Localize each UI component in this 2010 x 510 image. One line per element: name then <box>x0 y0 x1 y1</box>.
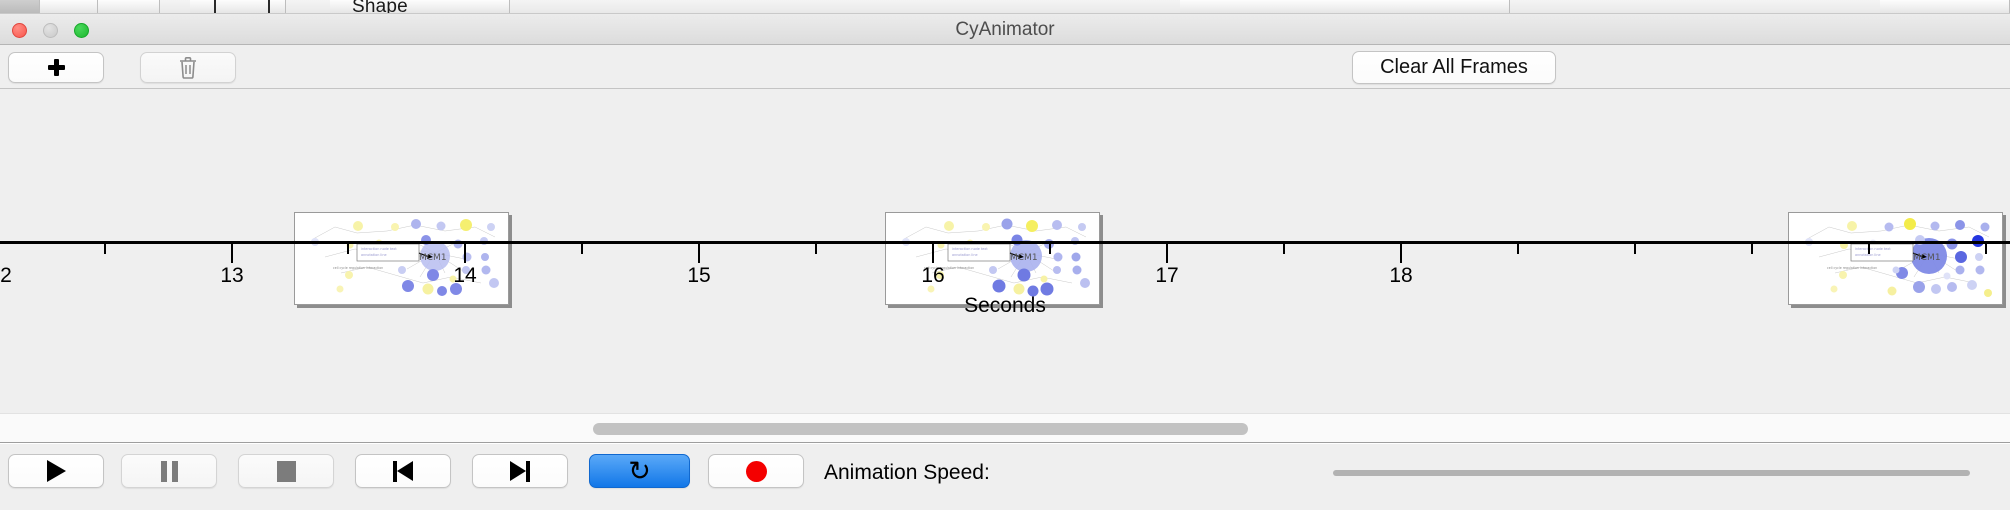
axis-tick-minor <box>1868 244 1870 254</box>
bg-chip <box>0 0 40 14</box>
axis-tick-major <box>1166 244 1168 263</box>
background-window-label: Shape <box>352 0 408 14</box>
axis-tick-major <box>932 244 934 263</box>
svg-text:MCM1: MCM1 <box>1010 253 1038 263</box>
timeline-pane[interactable]: interaction node text annotation line MC… <box>0 89 2010 413</box>
title-bar: CyAnimator <box>0 14 2010 45</box>
axis-tick-minor <box>1634 244 1636 254</box>
play-button[interactable] <box>8 454 104 488</box>
svg-text:MCM1: MCM1 <box>419 253 447 263</box>
axis-tick-major <box>464 244 466 263</box>
svg-text:annotation line: annotation line <box>952 253 978 257</box>
axis-tick-major <box>698 244 700 263</box>
add-frame-button[interactable] <box>8 52 104 83</box>
animation-speed-slider[interactable] <box>1333 470 1970 476</box>
stop-button[interactable] <box>238 454 334 488</box>
toolbar: Clear All Frames <box>0 45 2010 89</box>
axis-tick-label: 14 <box>453 264 476 288</box>
skip-to-end-button[interactable] <box>472 454 568 488</box>
axis-tick-minor <box>581 244 583 254</box>
axis-tick-label: 13 <box>220 264 243 288</box>
svg-text:cell cycle regulation interact: cell cycle regulation interaction <box>1827 266 1877 270</box>
cyanimator-window: Shape CyAnimator Clear All Frames <box>0 0 2010 510</box>
delete-frame-button[interactable] <box>140 52 236 83</box>
timeline-frame-thumbnail[interactable]: interaction node text annotation line MC… <box>294 212 509 305</box>
axis-tick-minor <box>1517 244 1519 254</box>
skip-to-start-button[interactable] <box>355 454 451 488</box>
loop-button[interactable]: ↻ <box>589 454 690 488</box>
axis-tick-minor <box>1049 244 1051 254</box>
pause-button[interactable] <box>121 454 217 488</box>
window-title: CyAnimator <box>0 19 2010 41</box>
playback-control-bar: ↻ Animation Speed: <box>0 444 2010 510</box>
bg-chip <box>40 0 98 14</box>
pause-icon <box>161 461 178 482</box>
bg-tick <box>268 0 270 14</box>
clear-all-frames-button[interactable]: Clear All Frames <box>1352 51 1556 84</box>
stop-icon <box>277 461 296 482</box>
svg-text:MCM1: MCM1 <box>1913 253 1941 263</box>
axis-tick-label: 2 <box>0 264 12 288</box>
animation-speed-label: Animation Speed: <box>824 461 990 485</box>
axis-caption: Seconds <box>0 294 2010 318</box>
axis-tick-label: 18 <box>1389 264 1412 288</box>
axis-tick-minor <box>1283 244 1285 254</box>
skip-to-end-icon <box>510 461 530 482</box>
play-icon <box>47 460 66 482</box>
axis-tick-label: 16 <box>921 264 944 288</box>
background-window-strip: Shape <box>0 0 2010 14</box>
bg-chip <box>98 0 160 14</box>
scrollbar-thumb[interactable] <box>593 423 1248 435</box>
record-button[interactable] <box>708 454 804 488</box>
axis-tick-minor <box>1985 244 1987 254</box>
timeline-horizontal-scrollbar[interactable] <box>0 413 2010 443</box>
svg-text:interaction node text: interaction node text <box>361 247 397 251</box>
timeline-axis-line <box>0 241 2010 244</box>
svg-text:interaction node text: interaction node text <box>952 247 988 251</box>
timeline-frame-thumbnail[interactable]: interaction node text annotation line MC… <box>885 212 1100 305</box>
record-icon <box>746 461 767 482</box>
axis-tick-minor <box>347 244 349 254</box>
axis-tick-minor <box>1751 244 1753 254</box>
svg-text:cell cycle regulation interact: cell cycle regulation interaction <box>333 266 383 270</box>
bg-chip <box>1180 0 1510 14</box>
axis-tick-label: 17 <box>1155 264 1178 288</box>
bg-chip <box>190 0 286 14</box>
skip-to-start-icon <box>393 461 413 482</box>
trash-icon <box>178 56 198 79</box>
axis-tick-major <box>231 244 233 263</box>
axis-tick-minor <box>104 244 106 254</box>
svg-text:interaction node text: interaction node text <box>1855 247 1891 251</box>
bg-chip <box>1880 0 2010 14</box>
loop-icon: ↻ <box>628 458 651 485</box>
axis-tick-minor <box>815 244 817 254</box>
axis-tick-label: 15 <box>687 264 710 288</box>
plus-icon <box>48 59 65 76</box>
timeline-frame-thumbnail[interactable]: interaction node text annotation line MC… <box>1788 212 2003 305</box>
svg-text:annotation line: annotation line <box>361 253 387 257</box>
axis-tick-major <box>1400 244 1402 263</box>
bg-tick <box>214 0 216 14</box>
